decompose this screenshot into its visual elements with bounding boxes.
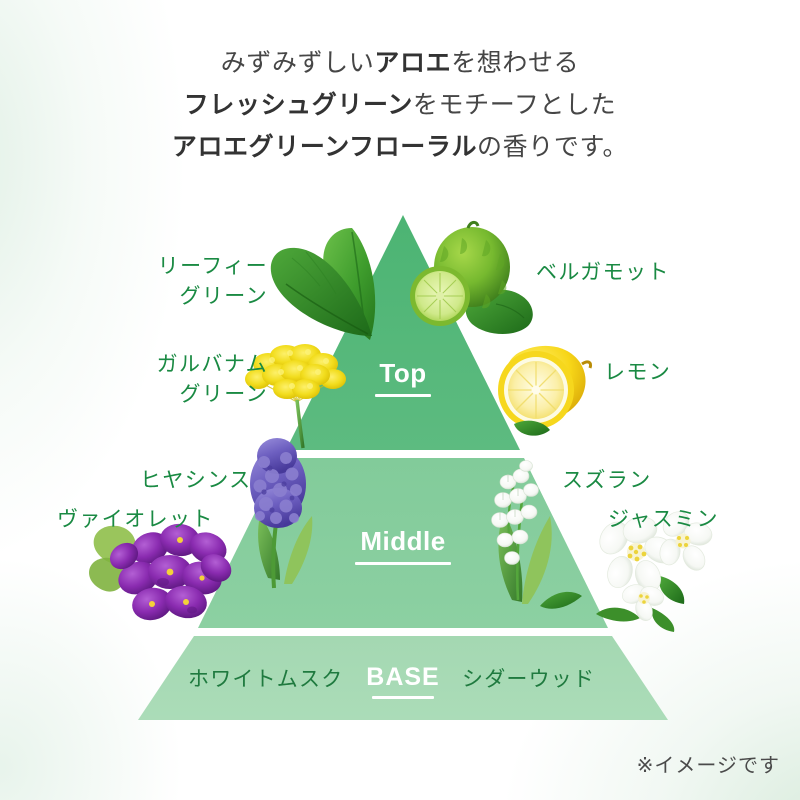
- image-disclaimer-note: ※イメージです: [637, 749, 780, 778]
- ingredient-label-galbanum-green-line1: ガルバナム: [118, 350, 268, 380]
- lemon-image: [498, 346, 591, 436]
- infographic-canvas: みずみずしいアロエを想わせる フレッシュグリーンをモチーフとした アロエグリーン…: [0, 0, 800, 800]
- ingredient-label-white-musk: ホワイトムスク: [188, 665, 343, 694]
- ingredient-label-leafy-green-line1: リーフィー: [146, 252, 268, 282]
- leafy-green-image: [271, 228, 375, 340]
- ingredient-label-bergamot: ベルガモット: [536, 258, 670, 287]
- ingredient-label-lemon: レモン: [604, 358, 671, 387]
- ingredient-label-galbanum-green-line2: グリーン: [118, 380, 268, 410]
- ingredient-label-violet: ヴァイオレット: [57, 505, 214, 534]
- ingredient-label-galbanum-green: ガルバナム グリーン: [118, 350, 268, 410]
- ingredient-label-cedarwood: シダーウッド: [462, 665, 595, 694]
- ingredient-label-hyacinth: ヒヤシンス: [140, 466, 252, 495]
- ingredient-label-lily-of-the-valley: スズラン: [562, 466, 652, 495]
- bergamot-image: [410, 222, 533, 334]
- ingredient-label-leafy-green: リーフィー グリーン: [146, 252, 268, 312]
- ingredient-label-jasmine: ジャスミン: [608, 505, 719, 534]
- ingredient-label-leafy-green-line2: グリーン: [146, 282, 268, 312]
